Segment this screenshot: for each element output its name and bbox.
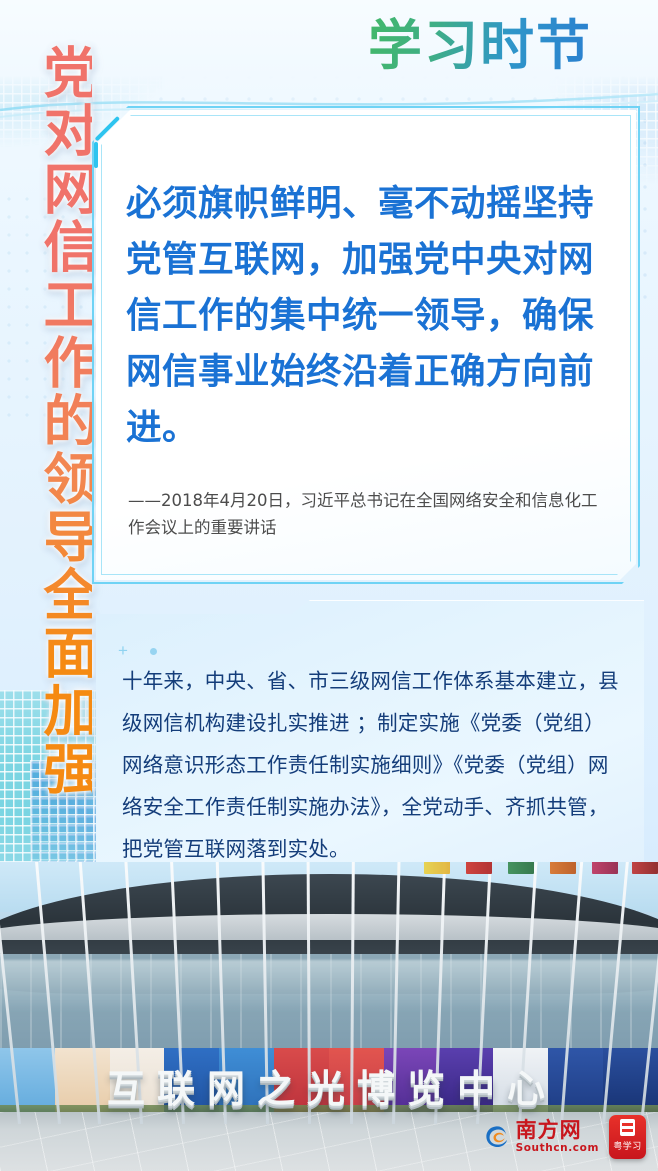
- yuexue-logo-label: 粤学习: [613, 1139, 641, 1152]
- southcn-swirl-icon: [484, 1124, 511, 1151]
- logo-group: 南方网 Southcn.com 粤学习: [484, 1115, 646, 1159]
- body-text: 十年来，中央、省、市三级网信工作体系基本建立，县级网信机构建设扎实推进 ；制定实…: [122, 660, 620, 870]
- header: 学习时节: [0, 0, 658, 108]
- brand-logo: 学习时节: [368, 16, 592, 76]
- quote-text: 必须旗帜鲜明、毫不动摇坚持党管互联网，加强党中央对网信工作的集中统一领导，确保网…: [126, 176, 618, 456]
- poster-root: 学习时节 党对网信工作的领导全面加强 必须旗帜鲜明、毫不动摇坚持党管互联网，加强…: [0, 0, 658, 1171]
- yuexue-mark-icon: [620, 1119, 635, 1136]
- quote-attribution: ——2018年4月20日，习近平总书记在全国网络安全和信息化工作会议上的重要讲话: [128, 487, 600, 541]
- brand-logo-text: 学习时节: [368, 14, 592, 77]
- photo-glass-reflection: [0, 960, 658, 1012]
- vertical-headline: 党对网信工作的领导全面加强: [14, 44, 92, 798]
- photo-expo-center: 互联网之光博览中心 南方网 Southcn.com 粤学习: [0, 862, 658, 1171]
- expo-center-sign-text: 互联网之光博览中心: [52, 1058, 612, 1113]
- southcn-logo-en: Southcn.com: [516, 1143, 599, 1154]
- yuexue-logo[interactable]: 粤学习: [609, 1115, 646, 1159]
- plus-decoration-icon: +: [118, 642, 128, 659]
- southcn-logo[interactable]: 南方网 Southcn.com: [484, 1120, 599, 1154]
- dot-decoration-icon: [150, 648, 157, 655]
- southcn-logo-cn: 南方网: [516, 1120, 599, 1141]
